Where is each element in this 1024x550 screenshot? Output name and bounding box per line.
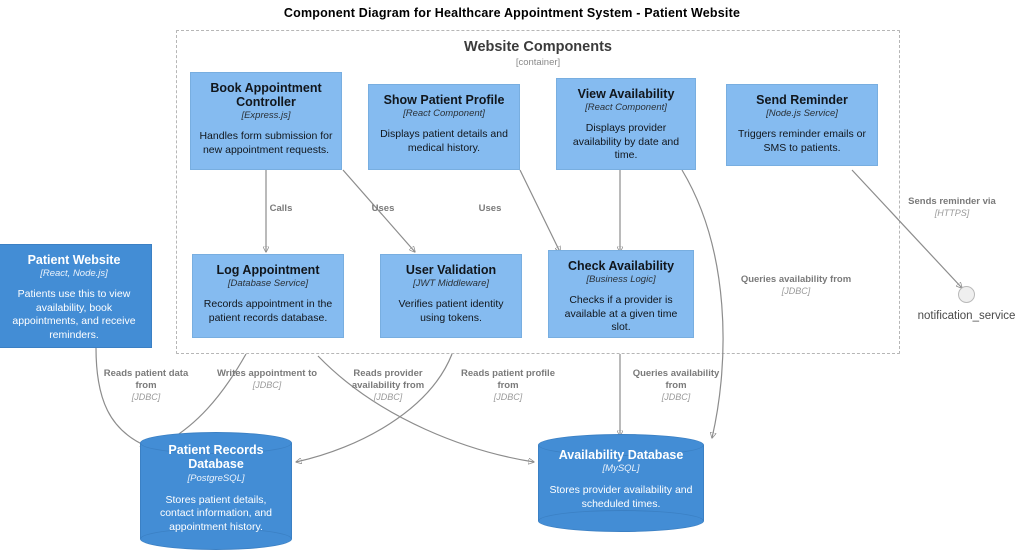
node-tech: [Database Service]: [228, 278, 308, 289]
node-name: Patient Records Database: [149, 443, 283, 472]
node-name: Check Availability: [568, 259, 674, 273]
node-tech: [Node.js Service]: [766, 108, 838, 119]
node-name: notification_service: [918, 310, 1016, 322]
node-desc: Handles form submission for new appointm…: [199, 130, 333, 157]
node-label-group: Patient Records Database [PostgreSQL] St…: [140, 443, 292, 534]
node-label-group: Availability Database [MySQL] Stores pro…: [538, 448, 704, 512]
node-tech: [JWT Middleware]: [413, 278, 489, 289]
node-patient-website[interactable]: Patient Website [React, Node.js] Patient…: [0, 244, 152, 348]
node-name: Availability Database: [559, 448, 684, 462]
node-tech: [React Component]: [585, 102, 667, 113]
node-book-appointment-controller[interactable]: Book Appointment Controller [Express.js]…: [190, 72, 342, 170]
node-view-availability[interactable]: View Availability [React Component] Disp…: [556, 78, 696, 170]
node-name: Book Appointment Controller: [199, 81, 333, 109]
node-desc: Displays provider availability by date a…: [565, 122, 687, 162]
node-check-availability[interactable]: Check Availability [Business Logic] Chec…: [548, 250, 694, 338]
node-tech: [Express.js]: [241, 110, 290, 121]
node-desc: Stores provider availability and schedul…: [547, 484, 695, 511]
node-desc: Patients use this to view availability, …: [5, 288, 143, 342]
cylinder-bottom: [538, 510, 704, 532]
node-show-patient-profile[interactable]: Show Patient Profile [React Component] D…: [368, 84, 520, 170]
node-tech: [React Component]: [403, 108, 485, 119]
diagram-canvas: Component Diagram for Healthcare Appoint…: [0, 0, 1024, 545]
external-node-icon: [958, 286, 975, 303]
node-name: View Availability: [578, 87, 675, 101]
node-notification-service[interactable]: notification_service: [958, 286, 975, 303]
node-tech: [React, Node.js]: [40, 268, 108, 279]
node-tech: [MySQL]: [603, 463, 640, 474]
node-desc: Triggers reminder emails or SMS to patie…: [735, 128, 869, 155]
node-log-appointment[interactable]: Log Appointment [Database Service] Recor…: [192, 254, 344, 338]
node-name: User Validation: [406, 263, 496, 277]
node-user-validation[interactable]: User Validation [JWT Middleware] Verifie…: [380, 254, 522, 338]
node-name: Show Patient Profile: [384, 93, 505, 107]
node-desc: Verifies patient identity using tokens.: [389, 298, 513, 325]
node-desc: Stores patient details, contact informat…: [149, 494, 283, 535]
node-name: Log Appointment: [217, 263, 320, 277]
node-patient-records-database[interactable]: Patient Records Database [PostgreSQL] St…: [140, 432, 292, 550]
node-send-reminder[interactable]: Send Reminder [Node.js Service] Triggers…: [726, 84, 878, 166]
node-desc: Checks if a provider is available at a g…: [557, 294, 685, 334]
node-name: Send Reminder: [756, 93, 848, 107]
node-tech: [Business Logic]: [586, 274, 655, 285]
node-name: Patient Website: [28, 253, 121, 267]
node-desc: Displays patient details and medical his…: [377, 128, 511, 155]
node-desc: Records appointment in the patient recor…: [201, 298, 335, 325]
node-availability-database[interactable]: Availability Database [MySQL] Stores pro…: [538, 434, 704, 534]
node-tech: [PostgreSQL]: [187, 473, 244, 484]
